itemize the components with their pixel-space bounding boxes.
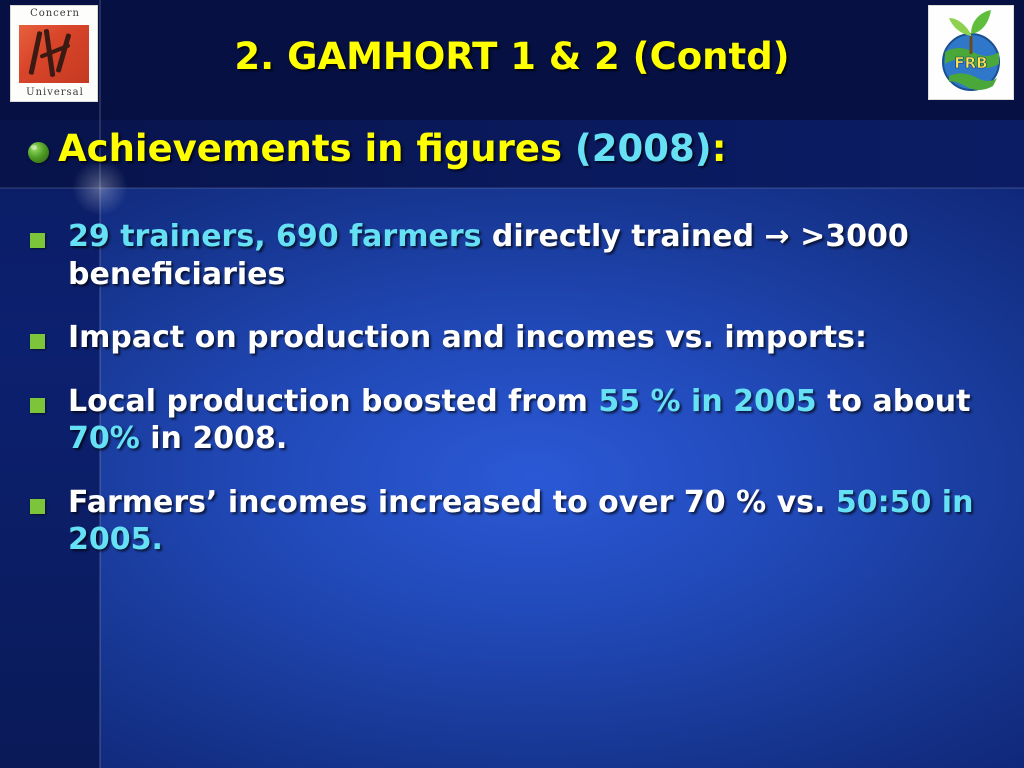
list-item: 29 trainers, 690 farmers directly traine… [30,218,1005,293]
presentation-slide: Concern Universal FRB 2. GAMHORT 1 & 2 (… [0,0,1024,768]
bullet-square-marker [30,319,68,349]
logo-left-bottom-text: Universal [11,87,99,98]
bullet-text-3: Local production boosted from 55 % in 20… [68,383,1005,458]
bullet-3-part-4: 70% [68,421,140,456]
bullet-2-part-1: Impact on production and incomes vs. imp… [68,320,867,355]
heading-bullet-row: Achievements in figures (2008): [28,128,988,169]
bullet-text-4: Farmers’ incomes increased to over 70 % … [68,484,1005,559]
bullet-3-part-5: in 2008. [140,421,287,456]
green-sphere-icon [28,142,49,163]
bullet-1-part-2: directly trained [492,219,765,254]
bullet-text-1: 29 trainers, 690 farmers directly traine… [68,218,1005,293]
bullet-1-part-1: 29 trainers, 690 farmers [68,219,492,254]
page-title: 2. GAMHORT 1 & 2 (Contd) [110,35,914,78]
green-square-icon [30,499,45,514]
bullet-3-part-2: 55 % in 2005 [598,384,827,419]
bullet-3-part-1: Local production boosted from [68,384,598,419]
list-item: Impact on production and incomes vs. imp… [30,319,1005,357]
frb-globe-logo: FRB [928,5,1014,100]
bullet-sphere-marker [28,128,58,163]
frb-logo-text: FRB [954,54,987,72]
decor-horizontal-line [0,187,1024,189]
bullet-4-part-1: Farmers’ incomes increased to over 70 % … [68,485,836,520]
heading-main: Achievements in figures [58,127,575,170]
list-item: Local production boosted from 55 % in 20… [30,383,1005,458]
heading-colon: : [712,127,727,170]
green-square-icon [30,334,45,349]
bullet-square-marker [30,383,68,413]
list-item: Farmers’ incomes increased to over 70 % … [30,484,1005,559]
bullet-square-marker [30,218,68,248]
logo-left-top-text: Concern [11,8,99,19]
bullet-1-arrow: → [765,219,790,254]
heading-year: (2008) [575,127,712,170]
heading-text: Achievements in figures (2008): [58,128,727,169]
bullet-3-part-3: to about [827,384,970,419]
bullet-square-marker [30,484,68,514]
green-square-icon [30,398,45,413]
concern-universal-logo: Concern Universal [10,5,98,102]
bullet-list: 29 trainers, 690 farmers directly traine… [30,218,1005,585]
bullet-text-2: Impact on production and incomes vs. imp… [68,319,867,357]
logo-left-artwork [19,25,89,83]
globe-icon: FRB [929,6,1013,99]
green-square-icon [30,233,45,248]
